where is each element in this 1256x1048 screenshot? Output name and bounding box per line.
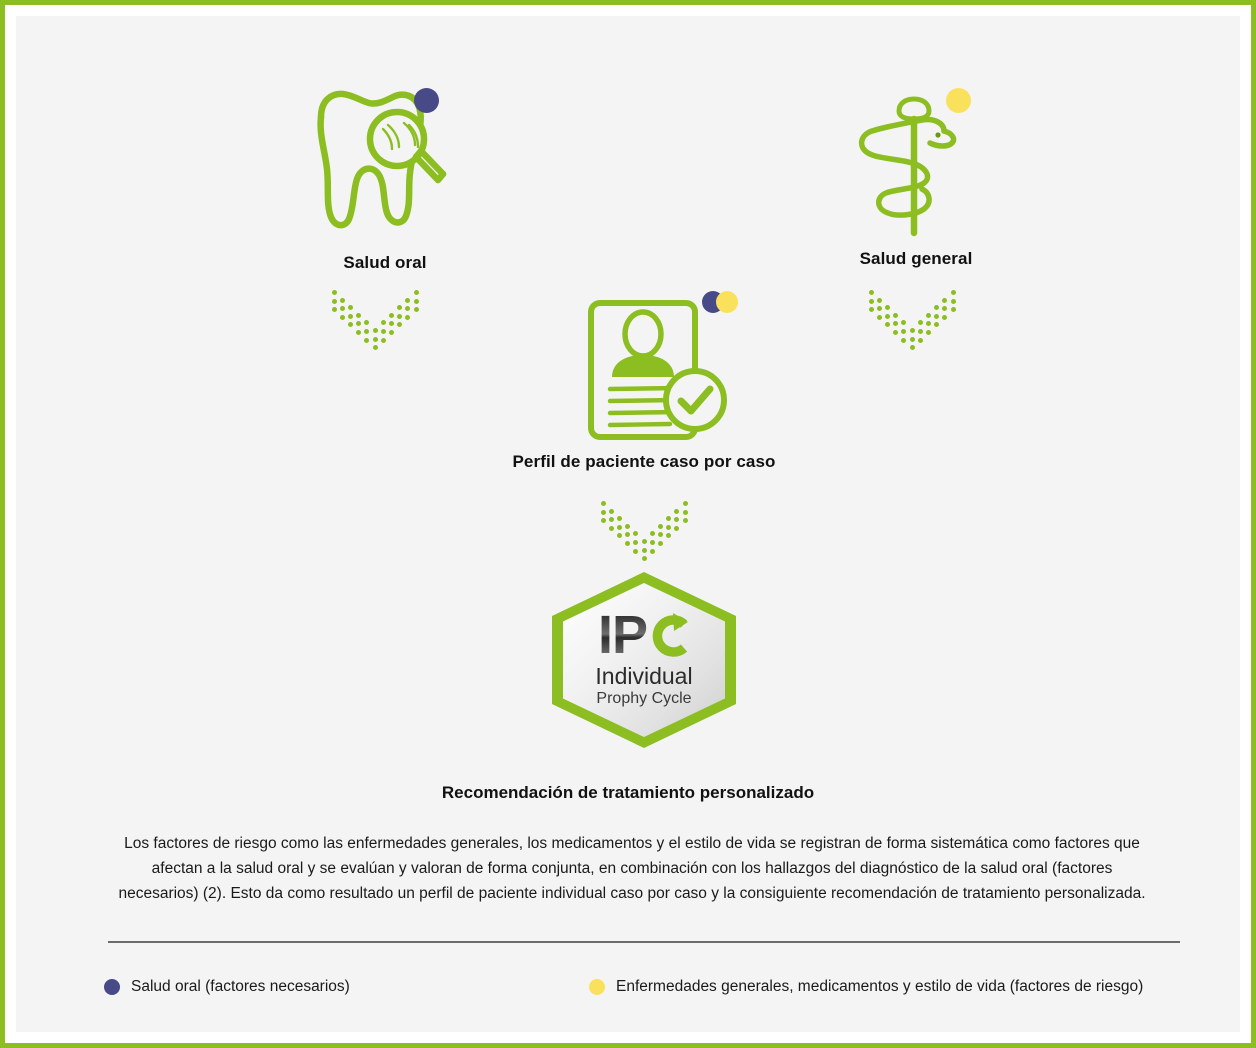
legend-swatch-yellow	[589, 979, 605, 995]
legend-item-salud-oral: Salud oral (factores necesarios)	[104, 978, 350, 996]
node-perfil-paciente: Perfil de paciente caso por caso	[464, 291, 824, 472]
rod-of-asclepius-icon	[826, 71, 1006, 241]
marker-dot-yellow	[716, 291, 738, 313]
marker-dot-purple	[414, 88, 439, 113]
ipc-acronym-accent-c-icon	[648, 610, 690, 660]
ipc-subtitle-line2: Prophy Cycle	[596, 690, 691, 708]
legend: Salud oral (factores necesarios) Enferme…	[16, 978, 1240, 1008]
node-label-salud-oral: Salud oral	[295, 253, 475, 273]
infographic-canvas: Salud oral Salud general	[16, 16, 1240, 1032]
ipc-subtitle-line1: Individual	[595, 664, 692, 689]
ipc-logo: IP Individual Prophy Cycle	[552, 572, 736, 748]
legend-item-factores-riesgo: Enfermedades generales, medicamentos y e…	[589, 978, 1143, 996]
marker-dot-yellow	[946, 88, 971, 113]
node-label-salud-general: Salud general	[826, 249, 1006, 269]
node-salud-general: Salud general	[826, 71, 1006, 269]
chevron-arrow-right	[862, 290, 962, 346]
node-label-perfil-paciente: Perfil de paciente caso por caso	[464, 452, 824, 472]
page-frame: Salud oral Salud general	[0, 0, 1256, 1048]
page-title: Recomendación de tratamiento personaliza…	[16, 783, 1240, 803]
description-paragraph: Los factores de riesgo como las enfermed…	[112, 831, 1152, 906]
ipc-acronym-dark: IP	[598, 608, 647, 662]
divider	[108, 941, 1180, 943]
tooth-magnifier-icon	[295, 81, 475, 241]
legend-label: Salud oral (factores necesarios)	[131, 978, 350, 996]
chevron-arrow-center	[594, 501, 694, 557]
chevron-arrow-left	[325, 290, 425, 346]
legend-swatch-purple	[104, 979, 120, 995]
patient-profile-card-icon	[464, 291, 824, 441]
node-salud-oral: Salud oral	[295, 81, 475, 273]
legend-label: Enfermedades generales, medicamentos y e…	[616, 978, 1143, 996]
